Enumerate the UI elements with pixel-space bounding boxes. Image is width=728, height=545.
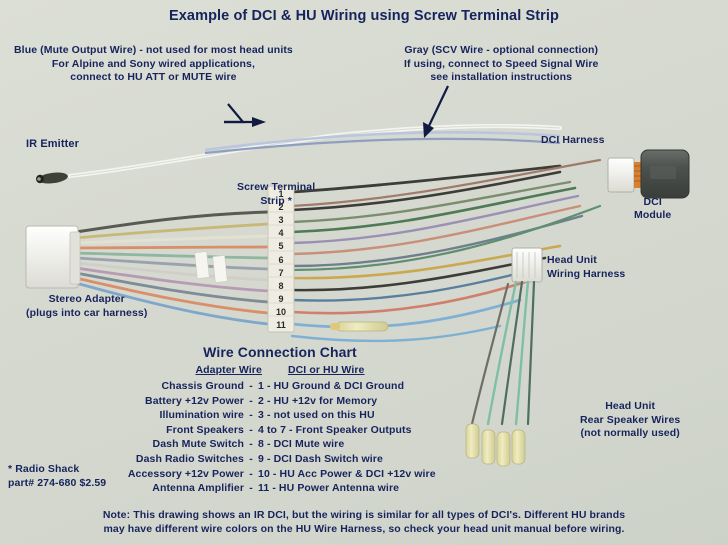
rear-speaker-line: Rear Speaker Wires [580, 414, 680, 428]
chart-row: Dash Mute Switch-8 - DCI Mute wire [72, 437, 488, 452]
rear-speaker-line: (not normally used) [580, 427, 680, 441]
chart-cell-dci-hu-wire: 2 - HU +12v for Memory [258, 394, 488, 409]
label-ir-emitter: IR Emitter [26, 138, 79, 150]
label-dci-module: DCIModule [634, 196, 671, 222]
chart-column-headers: Adapter Wire DCI or HU Wire [0, 364, 560, 376]
footer-note-line: Note: This drawing shows an IR DCI, but … [0, 508, 728, 522]
chart-cell-dci-hu-wire: 8 - DCI Mute wire [258, 437, 488, 452]
label-dci-harness: DCI Harness [541, 134, 605, 146]
chart-cell-dash: - [244, 394, 258, 409]
label-head-unit-wiring-harness: Head UnitWiring Harness [547, 254, 625, 281]
chart-cell-adapter-wire: Dash Radio Switches [72, 452, 244, 467]
chart-cell-adapter-wire: Front Speakers [72, 423, 244, 438]
terminal-number-11: 11 [271, 320, 291, 330]
chart-cell-adapter-wire: Battery +12v Power [72, 394, 244, 409]
chart-row: Front Speakers-4 to 7 - Front Speaker Ou… [72, 423, 488, 438]
terminal-number-2: 2 [271, 202, 291, 212]
blue-note-line: For Alpine and Sony wired applications, [14, 58, 293, 72]
chart-cell-adapter-wire: Illumination wire [72, 408, 244, 423]
blue-note-line: Blue (Mute Output Wire) - not used for m… [14, 44, 293, 58]
gray-note-line: see installation instructions [404, 71, 598, 85]
page-title: Example of DCI & HU Wiring using Screw T… [0, 8, 728, 24]
chart-cell-adapter-wire: Dash Mute Switch [72, 437, 244, 452]
chart-row: Dash Radio Switches-9 - DCI Dash Switch … [72, 452, 488, 467]
terminal-number-3: 3 [271, 215, 291, 225]
terminal-number-7: 7 [271, 268, 291, 278]
chart-title: Wire Connection Chart [0, 344, 560, 360]
footer-note: Note: This drawing shows an IR DCI, but … [0, 508, 728, 536]
stereo-adapter-line: (plugs into car harness) [26, 306, 147, 320]
chart-row: Battery +12v Power-2 - HU +12v for Memor… [72, 394, 488, 409]
chart-row: Antenna Amplifier-11 - HU Power Antenna … [72, 481, 488, 496]
terminal-number-9: 9 [271, 294, 291, 304]
chart-cell-dash: - [244, 379, 258, 394]
chart-row: Illumination wire-3 - not used on this H… [72, 408, 488, 423]
chart-cell-dash: - [244, 408, 258, 423]
label-stereo-adapter: Stereo Adapter(plugs into car harness) [26, 292, 147, 320]
chart-cell-dash: - [244, 467, 258, 482]
hu-harness-line: Head Unit [547, 254, 625, 268]
label-rear-speaker-wires: Head UnitRear Speaker Wires(not normally… [580, 400, 680, 441]
annotation-gray-scv-wire: Gray (SCV Wire - optional connection)If … [404, 44, 598, 85]
terminal-number-4: 4 [271, 228, 291, 238]
chart-cell-dci-hu-wire: 10 - HU Acc Power & DCI +12v wire [258, 467, 488, 482]
blue-note-line: connect to HU ATT or MUTE wire [14, 71, 293, 85]
annotation-blue-mute-wire: Blue (Mute Output Wire) - not used for m… [14, 44, 293, 85]
hu-harness-line: Wiring Harness [547, 268, 625, 282]
chart-cell-adapter-wire: Accessory +12v Power [72, 467, 244, 482]
terminal-number-8: 8 [271, 281, 291, 291]
chart-cell-dci-hu-wire: 4 to 7 - Front Speaker Outputs [258, 423, 488, 438]
terminal-number-5: 5 [271, 241, 291, 251]
chart-cell-dci-hu-wire: 1 - HU Ground & DCI Ground [258, 379, 488, 394]
chart-cell-dash: - [244, 437, 258, 452]
chart-cell-dci-hu-wire: 9 - DCI Dash Switch wire [258, 452, 488, 467]
column-header-adapter-wire: Adapter Wire [195, 364, 261, 376]
chart-cell-dash: - [244, 452, 258, 467]
terminal-number-10: 10 [271, 307, 291, 317]
chart-row: Accessory +12v Power-10 - HU Acc Power &… [72, 467, 488, 482]
chart-cell-adapter-wire: Antenna Amplifier [72, 481, 244, 496]
dci-module-line: DCI [634, 196, 671, 209]
gray-note-line: If using, connect to Speed Signal Wire [404, 58, 598, 72]
wire-connection-chart: Wire Connection Chart Adapter Wire DCI o… [0, 344, 560, 496]
rear-speaker-line: Head Unit [580, 400, 680, 414]
terminal-number-6: 6 [271, 255, 291, 265]
chart-cell-adapter-wire: Chassis Ground [72, 379, 244, 394]
column-header-dci-hu-wire: DCI or HU Wire [288, 364, 365, 376]
chart-cell-dash: - [244, 481, 258, 496]
chart-cell-dash: - [244, 423, 258, 438]
dci-module-line: Module [634, 209, 671, 222]
diagram-canvas: Example of DCI & HU Wiring using Screw T… [0, 0, 728, 545]
stereo-adapter-line: Stereo Adapter [26, 292, 147, 306]
chart-cell-dci-hu-wire: 11 - HU Power Antenna wire [258, 481, 488, 496]
chart-rows: Chassis Ground-1 - HU Ground & DCI Groun… [72, 379, 488, 496]
gray-note-line: Gray (SCV Wire - optional connection) [404, 44, 598, 58]
chart-row: Chassis Ground-1 - HU Ground & DCI Groun… [72, 379, 488, 394]
footer-note-line: may have different wire colors on the HU… [0, 522, 728, 536]
chart-cell-dci-hu-wire: 3 - not used on this HU [258, 408, 488, 423]
terminal-number-1: 1 [271, 189, 291, 199]
